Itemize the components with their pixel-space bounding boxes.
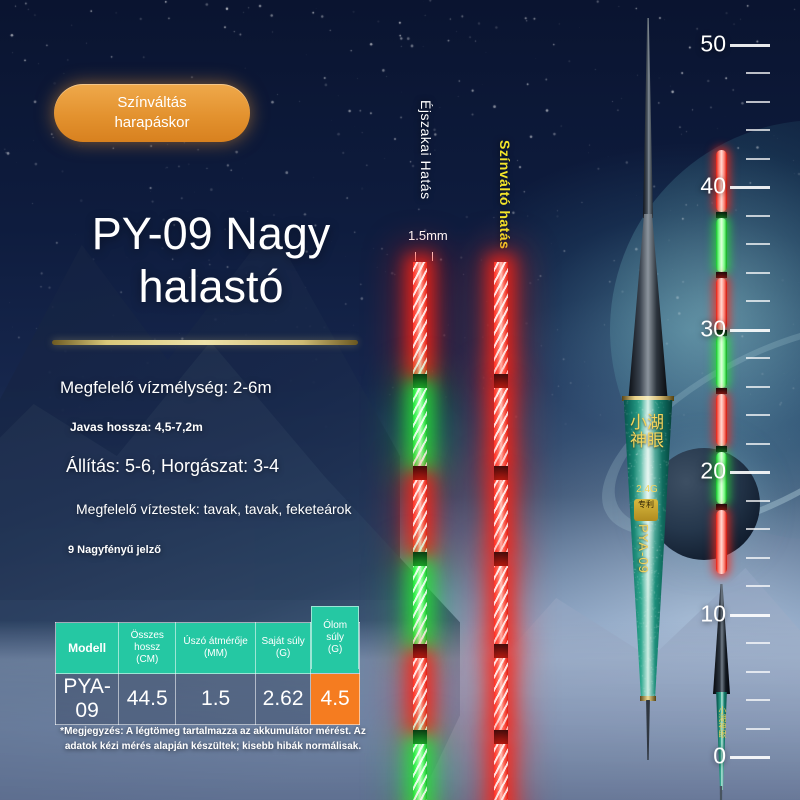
antenna-segment-blk <box>494 552 508 566</box>
float-model-code: PYA-09 <box>636 524 651 574</box>
ruler-label: 0 <box>713 743 726 770</box>
spec-water-depth: Megfelelő vízmélység: 2-6m <box>60 378 420 398</box>
table-row: PYA-09 44.5 1.5 2.62 4.5 <box>56 674 360 725</box>
ruler-minor-tick <box>746 728 770 730</box>
antenna-segment-blk <box>494 730 508 744</box>
title-line-2: halastó <box>46 261 376 314</box>
ruler-minor-tick <box>746 528 770 530</box>
spec-list: Megfelelő vízmélység: 2-6m Javas hossza:… <box>40 378 420 556</box>
antenna-segment-red <box>494 480 508 552</box>
ruler-minor-tick <box>746 699 770 701</box>
ruler-minor-tick <box>746 557 770 559</box>
antenna-segment-blk <box>413 552 427 566</box>
antenna-segment-red <box>413 262 427 374</box>
float-brand-text: 小湖神眼 <box>630 414 664 450</box>
antenna-segment-blk <box>494 466 508 480</box>
measurement-ruler: 01020304050 <box>668 30 788 770</box>
ruler-minor-tick <box>746 300 770 302</box>
ruler-major-tick <box>730 756 770 759</box>
badge-line-1: Színváltás <box>117 93 186 113</box>
ruler-minor-tick <box>746 414 770 416</box>
label-color-change: Színváltó hatás <box>497 140 513 249</box>
cell-own-weight: 2.62 <box>255 674 310 725</box>
antenna-segment-red <box>494 262 508 374</box>
header-modell: Modell <box>56 623 119 674</box>
antenna-segment-green <box>413 566 427 644</box>
antenna-segment-red <box>413 480 427 552</box>
ruler-minor-tick <box>746 243 770 245</box>
ruler-label: 40 <box>700 173 726 200</box>
ruler-major-tick <box>730 471 770 474</box>
header-float-diameter: Úszó átmérője (MM) <box>176 623 256 674</box>
spec-indicator-count: 9 Nagyfényű jelző <box>68 544 420 556</box>
antenna-segment-blk <box>413 644 427 658</box>
ruler-label: 10 <box>700 600 726 627</box>
ruler-major-tick <box>730 614 770 617</box>
float-antenna-tip <box>643 18 653 218</box>
float-seal: 专利 <box>634 499 658 521</box>
ruler-minor-tick <box>746 158 770 160</box>
cell-float-diameter: 1.5 <box>176 674 256 725</box>
antenna-segment-blk <box>413 466 427 480</box>
antenna-segment-green <box>413 744 427 800</box>
antenna-segment-blk <box>494 644 508 658</box>
ruler-major-tick <box>730 44 770 47</box>
ruler-minor-tick <box>746 642 770 644</box>
ruler-label: 50 <box>700 31 726 58</box>
footnote: *Megjegyzés: A légtömeg tartalmazza az a… <box>48 724 378 754</box>
ruler-minor-tick <box>746 357 770 359</box>
title-line-1: PY-09 Nagy <box>46 208 376 261</box>
antenna-segment-red <box>494 744 508 800</box>
badge-line-2: harapáskor <box>114 113 189 133</box>
title-divider <box>52 340 358 345</box>
antenna-segment-green <box>413 388 427 466</box>
ruler-minor-tick <box>746 585 770 587</box>
feature-badge: Színváltás harapáskor <box>54 84 250 142</box>
spec-setting-fishing: Állítás: 5-6, Horgászat: 3-4 <box>66 456 420 477</box>
diameter-tick-right <box>432 252 433 261</box>
header-lead-weight: Ólom súly (G) <box>311 623 360 674</box>
cell-total-length: 44.5 <box>119 674 176 725</box>
ruler-major-tick <box>730 186 770 189</box>
ruler-minor-tick <box>746 215 770 217</box>
float-frequency: 2.4G <box>628 484 666 495</box>
float-neck <box>628 214 668 404</box>
ruler-major-tick <box>730 329 770 332</box>
antenna-segment-blk <box>413 374 427 388</box>
antenna-segment-blk <box>494 374 508 388</box>
label-night-effect: Éjszakai Hatás <box>418 100 434 200</box>
antenna-segment-red <box>494 566 508 644</box>
ruler-minor-tick <box>746 671 770 673</box>
page-title: PY-09 Nagy halastó <box>46 208 376 313</box>
antenna-segment-red <box>413 658 427 730</box>
ruler-label: 20 <box>700 458 726 485</box>
antenna-color-change <box>413 262 427 800</box>
product-advertisement: Színváltás harapáskor PY-09 Nagy halastó… <box>0 0 800 800</box>
ruler-minor-tick <box>746 386 770 388</box>
spec-table: Modell Összes hossz (CM) Úszó átmérője (… <box>55 622 360 725</box>
header-total-length: Összes hossz (CM) <box>119 623 176 674</box>
header-lead-weight-text: Ólom súly (G) <box>311 606 359 669</box>
ruler-minor-tick <box>746 72 770 74</box>
ruler-minor-tick <box>746 272 770 274</box>
ruler-minor-tick <box>746 443 770 445</box>
header-own-weight: Saját súly (G) <box>255 623 310 674</box>
ruler-minor-tick <box>746 129 770 131</box>
antenna-segment-red <box>494 658 508 730</box>
spec-recommended-length: Javas hossza: 4,5-7,2m <box>70 420 420 434</box>
antenna-night-red <box>494 262 508 800</box>
antenna-segment-blk <box>413 730 427 744</box>
table-header-row: Modell Összes hossz (CM) Úszó átmérője (… <box>56 623 360 674</box>
cell-lead-weight: 4.5 <box>311 674 360 725</box>
diameter-tick-left <box>415 252 416 261</box>
label-diameter: 1.5mm <box>408 228 448 243</box>
ruler-minor-tick <box>746 101 770 103</box>
ruler-minor-tick <box>746 500 770 502</box>
spec-water-bodies: Megfelelő víztestek: tavak, tavak, feket… <box>76 501 420 517</box>
cell-model: PYA-09 <box>56 674 119 725</box>
ruler-label: 30 <box>700 315 726 342</box>
antenna-segment-red <box>494 388 508 466</box>
